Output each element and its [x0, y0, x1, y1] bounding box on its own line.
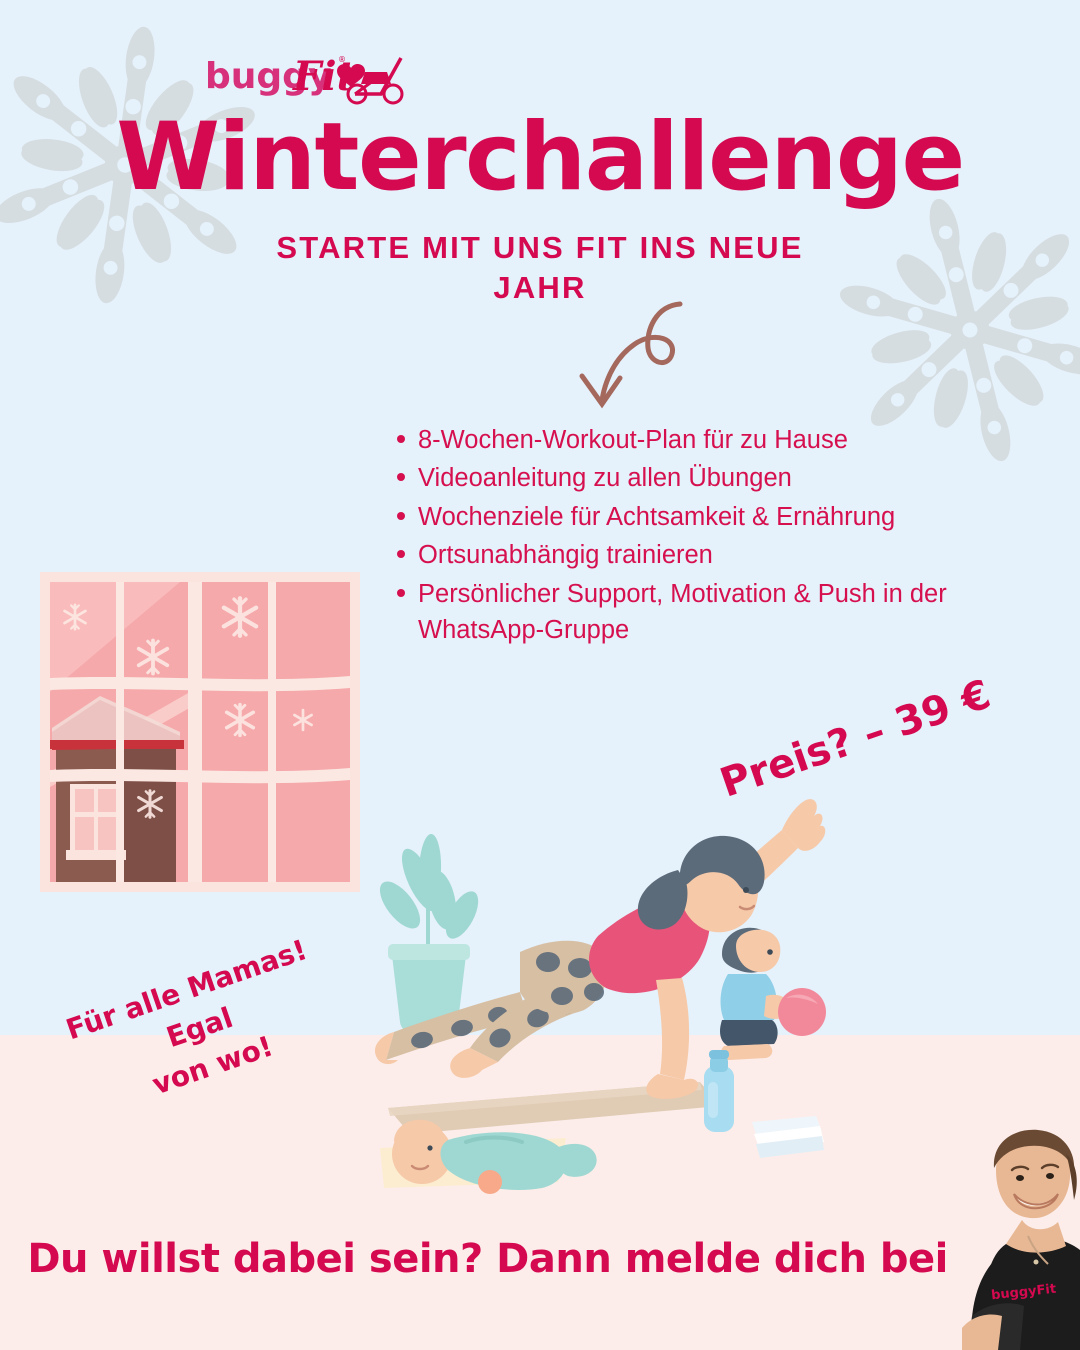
list-item: Persönlicher Support, Motivation & Push … — [392, 576, 1032, 649]
feature-list: 8-Wochen-Workout-Plan für zu Hause Video… — [392, 422, 1032, 651]
page-title: Winterchallenge — [0, 112, 1080, 204]
buggyfit-logo: buggy Fit ® — [205, 48, 420, 108]
list-item: 8-Wochen-Workout-Plan für zu Hause — [392, 422, 1032, 458]
list-item: Ortsunabhängig trainieren — [392, 537, 1032, 573]
coach-portrait-photo: buggyFit — [962, 1128, 1080, 1350]
call-to-action-text: Du willst dabei sein? Dann melde dich be… — [0, 1236, 1080, 1282]
snowy-window-illustration — [40, 572, 360, 892]
list-item: Wochenziele für Achtsamkeit & Ernährung — [392, 499, 1032, 535]
curly-arrow-icon — [560, 298, 730, 413]
mom-workout-with-kids-illustration — [370, 730, 836, 1226]
registered-mark: ® — [338, 55, 346, 64]
poster-canvas: buggy Fit ® Winterchallenge STARTE MIT U… — [0, 0, 1080, 1350]
page-subtitle: STARTE MIT UNS FIT INS NEUE JAHR — [240, 228, 840, 307]
list-item: Videoanleitung zu allen Übungen — [392, 460, 1032, 496]
